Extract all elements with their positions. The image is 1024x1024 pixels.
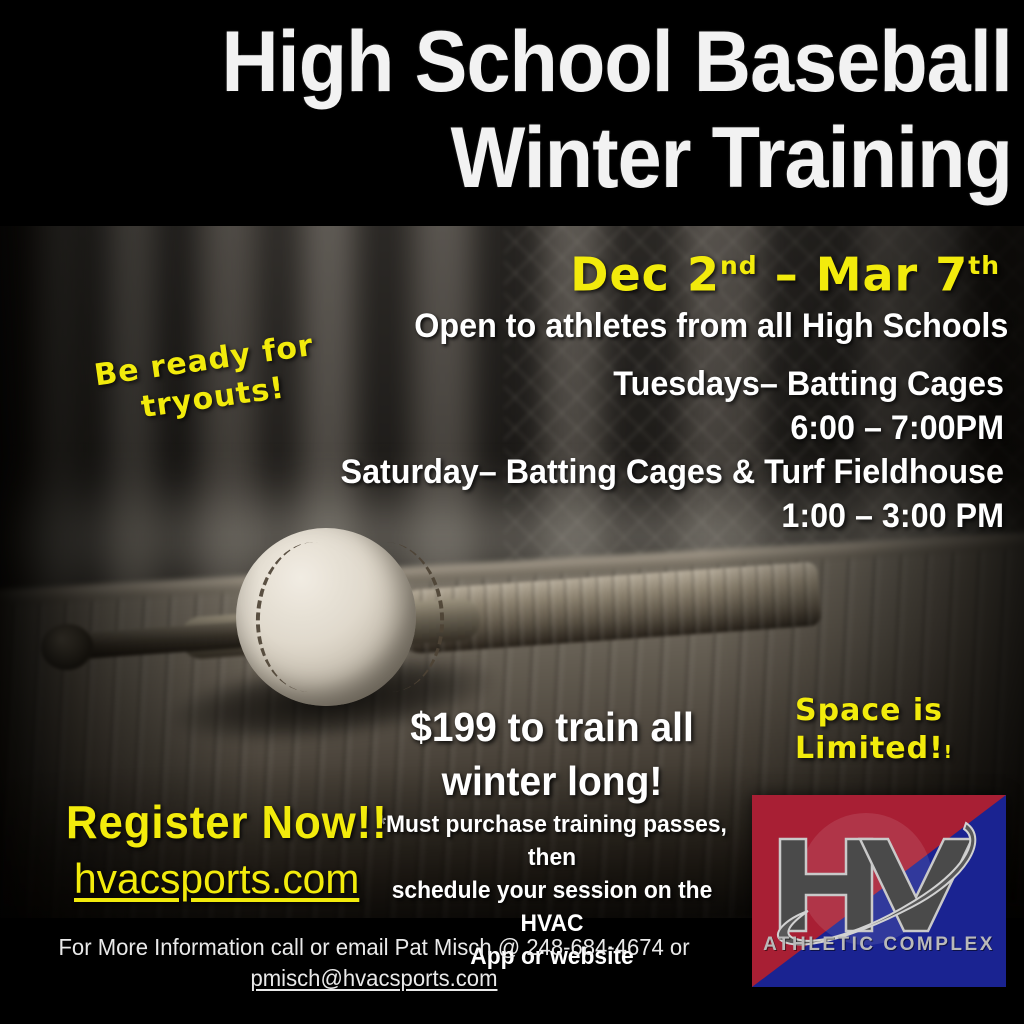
callout-space-extra-bang: ! <box>944 742 953 763</box>
date-start-month: Dec <box>570 247 670 301</box>
date-end-ordinal: th <box>968 251 1000 280</box>
logo-letter-v <box>860 839 972 931</box>
title-line-2: Winter Training <box>81 110 1012 206</box>
footer-contact: For More Information call or email Pat M… <box>15 932 733 994</box>
callout-space-line-1: Space is <box>795 692 953 730</box>
schedule-item-tuesday-location: Tuesdays– Batting Cages <box>339 362 1004 406</box>
callout-space-limited: Space is Limited!! <box>795 692 953 772</box>
page-title: High School Baseball Winter Training <box>0 14 1012 206</box>
callout-space-line-2-wrap: Limited!! <box>795 730 953 772</box>
eligibility-line: Open to athletes from all High Schools <box>414 306 1008 346</box>
pricing-headline: $199 to train all winter long! <box>381 700 723 808</box>
register-now-label[interactable]: Register Now!! <box>66 796 388 848</box>
schedule-list: Tuesdays– Batting Cages 6:00 – 7:00PM Sa… <box>339 362 1004 538</box>
website-link[interactable]: hvacsports.com <box>74 855 359 903</box>
pricing-note-line-1: *Must purchase training passes, then <box>370 808 735 874</box>
schedule-item-saturday-time: 1:00 – 3:00 PM <box>339 494 1004 538</box>
schedule-item-tuesday-time: 6:00 – 7:00PM <box>339 406 1004 450</box>
footer-email-link[interactable]: pmisch@hvacsports.com <box>15 963 733 994</box>
pricing-note-line-2: schedule your session on the HVAC <box>370 874 735 940</box>
date-separator: – <box>775 247 799 301</box>
footer-contact-line: For More Information call or email Pat M… <box>15 932 733 963</box>
date-start-day: 2 <box>687 247 720 301</box>
logo-mark-icon <box>752 795 1006 987</box>
logo-tagline: ATHLETIC COMPLEX <box>752 934 1006 956</box>
callout-space-line-2: Limited! <box>795 731 944 766</box>
schedule-item-saturday-location: Saturday– Batting Cages & Turf Fieldhous… <box>339 450 1004 494</box>
date-start-ordinal: nd <box>720 251 758 280</box>
poster: High School Baseball Winter Training Dec… <box>0 0 1024 1024</box>
pricing-headline-line-2: winter long! <box>381 754 723 808</box>
date-range: Dec 2nd – Mar 7th <box>570 240 1000 300</box>
hvac-athletic-complex-logo: ATHLETIC COMPLEX <box>752 795 1006 987</box>
date-end-day: 7 <box>935 247 968 301</box>
title-line-1: High School Baseball <box>81 14 1012 110</box>
date-end-month: Mar <box>816 247 919 301</box>
pricing-headline-line-1: $199 to train all <box>381 700 723 754</box>
